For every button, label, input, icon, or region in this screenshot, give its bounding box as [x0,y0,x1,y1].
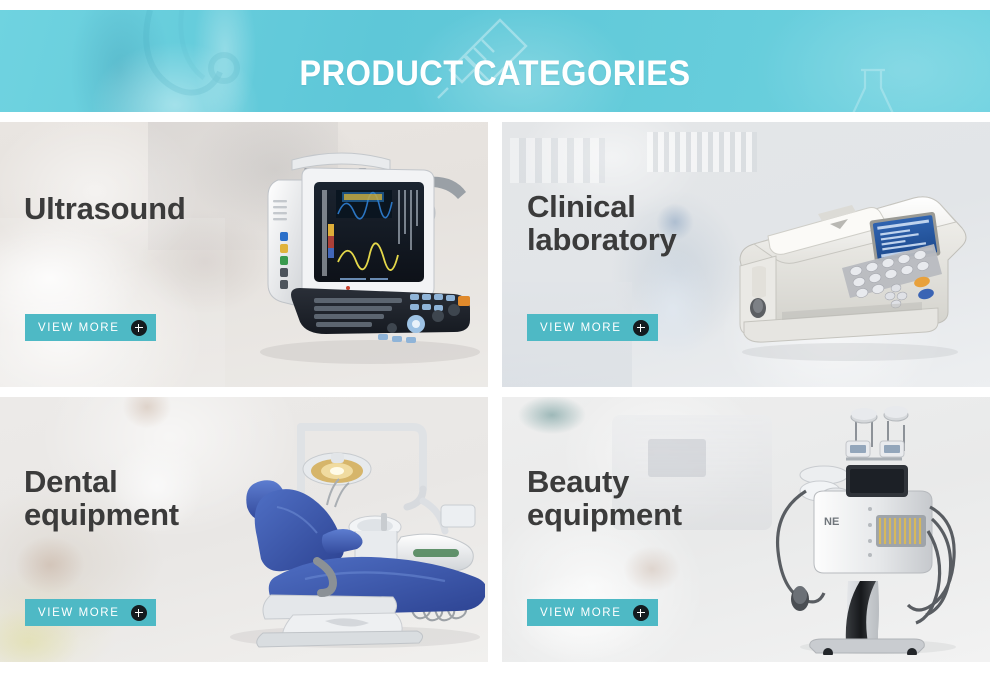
ultrasound-machine-image [240,138,486,368]
plus-circle-icon [131,605,147,621]
clinical-analyzer-image [722,172,970,362]
card-title-dental-equipment: Dental equipment [24,465,179,531]
category-card-grid: Ultrasound VIEW MORE [0,122,990,662]
category-card-clinical-laboratory[interactable]: Clinical laboratory VIEW MORE [502,122,990,387]
background-cabinet-shape [510,138,605,183]
background-window-shape [647,132,757,172]
plus-circle-icon [131,320,147,336]
svg-text:NE: NE [824,516,839,528]
background-patient-shape [0,517,128,662]
product-categories-page: PRODUCT CATEGORIES [0,0,990,688]
page-header-banner: PRODUCT CATEGORIES [0,10,990,112]
view-more-label: VIEW MORE [540,607,622,619]
page-title: PRODUCT CATEGORIES [35,54,956,94]
view-more-label: VIEW MORE [540,322,622,334]
card-title-clinical-laboratory: Clinical laboratory [527,190,677,256]
card-title-ultrasound: Ultrasound [24,192,186,225]
category-card-dental-equipment[interactable]: Dental equipment VIEW MORE [0,397,488,662]
plus-circle-icon [633,605,649,621]
view-more-button-dental-equipment[interactable]: VIEW MORE [25,599,156,626]
plus-circle-icon [633,320,649,336]
view-more-button-ultrasound[interactable]: VIEW MORE [25,314,156,341]
card-title-beauty-equipment: Beauty equipment [527,465,682,531]
view-more-button-beauty-equipment[interactable]: VIEW MORE [527,599,658,626]
dental-chair-image [205,409,485,654]
view-more-button-clinical-laboratory[interactable]: VIEW MORE [527,314,658,341]
view-more-label: VIEW MORE [38,322,120,334]
background-surgical-cap-shape [510,397,592,435]
view-more-label: VIEW MORE [38,607,120,619]
beauty-machine-image: NE [760,403,985,655]
background-patient-shape [522,517,712,662]
background-patient-shape [0,218,225,387]
category-card-beauty-equipment[interactable]: NE [502,397,990,662]
category-card-ultrasound[interactable]: Ultrasound VIEW MORE [0,122,488,387]
